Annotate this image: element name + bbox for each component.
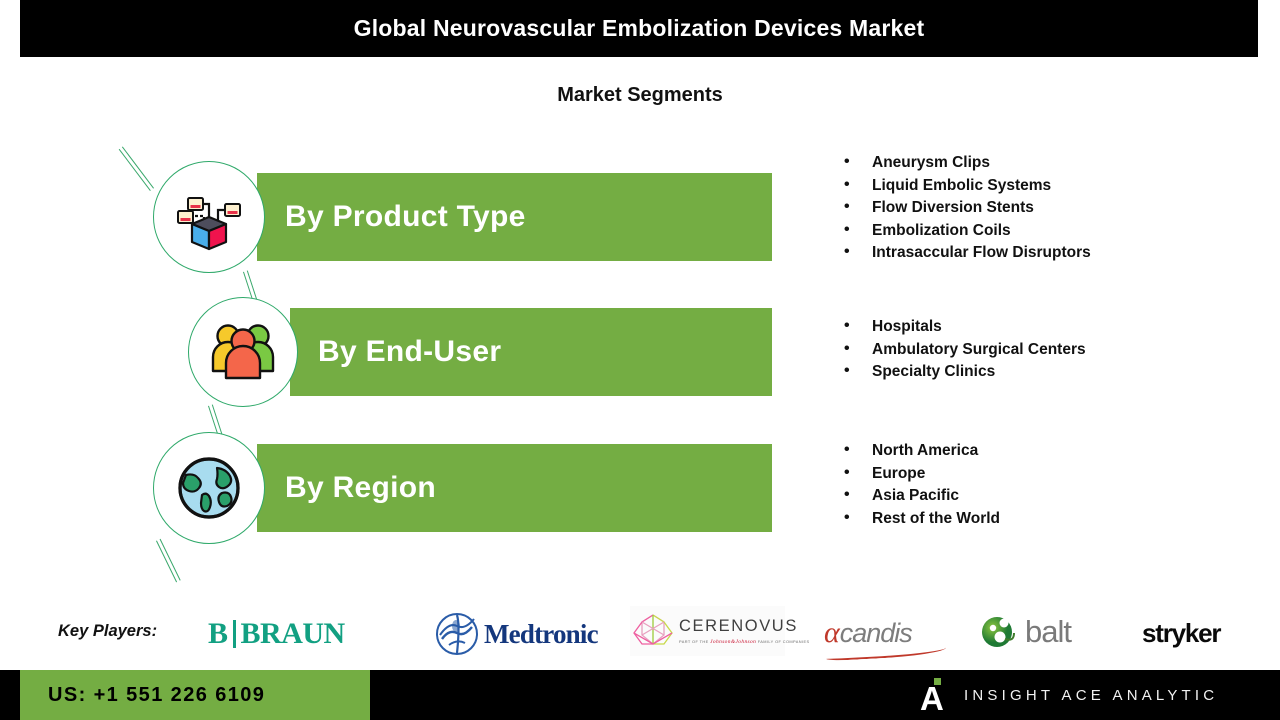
connector-line-bottom (156, 539, 181, 583)
logo-cerenovus: CERENOVUS PART OF THE Johnson&Johnson FA… (630, 606, 785, 656)
list-item: North America (838, 440, 1000, 463)
logo-medtronic: Medtronic (434, 611, 598, 657)
footer-brand-name: INSIGHT ACE ANALYTIC (964, 687, 1218, 704)
list-item: Aneurysm Clips (838, 152, 1091, 175)
connector-line-top (119, 146, 154, 191)
cerenovus-emblem-icon (630, 611, 676, 651)
globe-icon (176, 455, 242, 521)
footer-brand: A INSIGHT ACE ANALYTIC (920, 670, 1218, 720)
segment-icon-circle-enduser (188, 297, 298, 407)
section-title: Market Segments (0, 84, 1280, 107)
page-title: Global Neurovascular Embolization Device… (354, 15, 925, 42)
balt-emblem-icon (980, 612, 1024, 652)
segment-label-enduser: By End-User (318, 335, 501, 369)
list-item: Rest of the World (838, 508, 1000, 531)
people-group-icon (207, 319, 279, 385)
logo-stryker: stryker (1142, 618, 1220, 649)
list-item: Embolization Coils (838, 220, 1091, 243)
logo-bbraun: B BRAUN (208, 617, 345, 651)
list-item: Specialty Clinics (838, 361, 1086, 384)
medtronic-wordmark: Medtronic (484, 619, 598, 650)
segment-bar-product[interactable]: By Product Type (257, 173, 772, 261)
brand-dot-icon (934, 678, 941, 685)
header-bar: Global Neurovascular Embolization Device… (20, 0, 1258, 57)
logo-balt: balt (980, 612, 1071, 652)
bbraun-divider-icon (233, 620, 236, 648)
insight-ace-logo-icon: A (920, 676, 946, 714)
bullet-list-product: Aneurysm Clips Liquid Embolic Systems Fl… (838, 152, 1091, 265)
list-item: Ambulatory Surgical Centers (838, 339, 1086, 362)
list-item: Hospitals (838, 316, 1086, 339)
product-box-network-icon (172, 180, 246, 254)
bullet-list-region: North America Europe Asia Pacific Rest o… (838, 440, 1000, 530)
cerenovus-wordmark: CERENOVUS (679, 617, 809, 636)
key-players-label: Key Players: (58, 622, 157, 641)
segment-icon-circle-region (153, 432, 265, 544)
list-item: Asia Pacific (838, 485, 1000, 508)
cerenovus-tagline: PART OF THE Johnson&Johnson FAMILY OF CO… (679, 639, 809, 645)
balt-wordmark: balt (1025, 614, 1071, 650)
medtronic-emblem-icon (434, 611, 480, 657)
segment-label-product: By Product Type (285, 200, 526, 234)
list-item: Liquid Embolic Systems (838, 175, 1091, 198)
stryker-wordmark: stryker (1142, 618, 1220, 649)
segment-bar-enduser[interactable]: By End-User (290, 308, 772, 396)
bbraun-wordmark: BRAUN (241, 617, 345, 651)
infographic-slide: Global Neurovascular Embolization Device… (0, 0, 1280, 720)
acandis-wordmark: candis (840, 618, 912, 649)
bbraun-letter-b: B (208, 617, 228, 651)
segment-icon-circle-product (153, 161, 265, 273)
acandis-alpha-glyph: α (824, 616, 840, 650)
footer-phone-block: US: +1 551 226 6109 (20, 670, 370, 720)
list-item: Flow Diversion Stents (838, 197, 1091, 220)
footer-phone: US: +1 551 226 6109 (48, 684, 265, 707)
segment-label-region: By Region (285, 471, 436, 505)
logo-acandis: α candis (824, 616, 912, 650)
list-item: Intrasaccular Flow Disruptors (838, 242, 1091, 265)
list-item: Europe (838, 463, 1000, 486)
segment-bar-region[interactable]: By Region (257, 444, 772, 532)
bullet-list-enduser: Hospitals Ambulatory Surgical Centers Sp… (838, 316, 1086, 384)
